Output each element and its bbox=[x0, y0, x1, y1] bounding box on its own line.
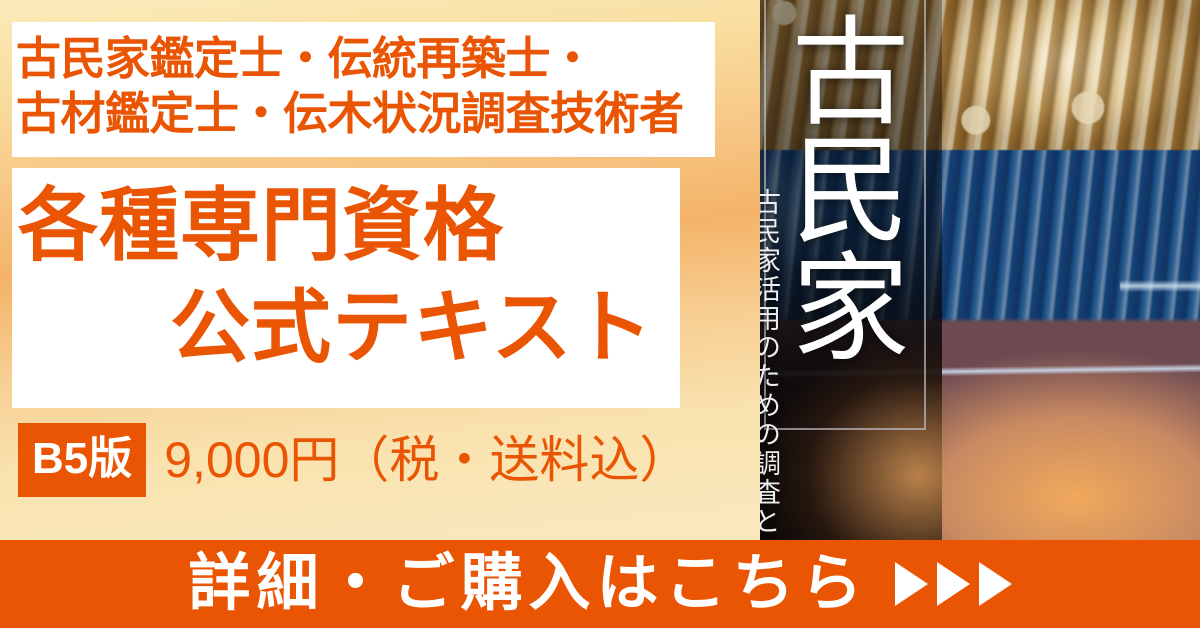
page-title-primary: 各種専門資格 bbox=[18, 186, 504, 266]
format-badge: B5版 bbox=[18, 423, 146, 497]
headline-line-1: 古民家鑑定士・伝統再築士・ bbox=[16, 32, 716, 87]
page-title-secondary: 公式テキスト bbox=[170, 288, 654, 368]
cta-label: 詳細・ご購入はこちら bbox=[188, 553, 868, 615]
chevron-right-icon bbox=[895, 562, 928, 606]
chevron-right-icon bbox=[937, 562, 970, 606]
headline-line-2: 古材鑑定士・伝木状況調査技術者 bbox=[16, 87, 716, 142]
cta-bar[interactable]: 詳細・ご購入はこちら bbox=[0, 540, 1200, 628]
promo-banner: 古民家 伝統構法 古民家活用のための調査と再生の 古民家鑑定士・伝統再築士・ 古… bbox=[0, 0, 1200, 628]
chevron-right-icon bbox=[979, 562, 1012, 606]
cta-arrows bbox=[895, 562, 1012, 606]
price-label: 9,000円（税・送料込） bbox=[164, 435, 689, 485]
book-cover-title: 古民家 bbox=[786, 10, 906, 430]
price-row: B5版 9,000円（税・送料込） bbox=[18, 423, 689, 497]
qualification-headline: 古民家鑑定士・伝統再築士・ 古材鑑定士・伝木状況調査技術者 bbox=[16, 32, 716, 142]
